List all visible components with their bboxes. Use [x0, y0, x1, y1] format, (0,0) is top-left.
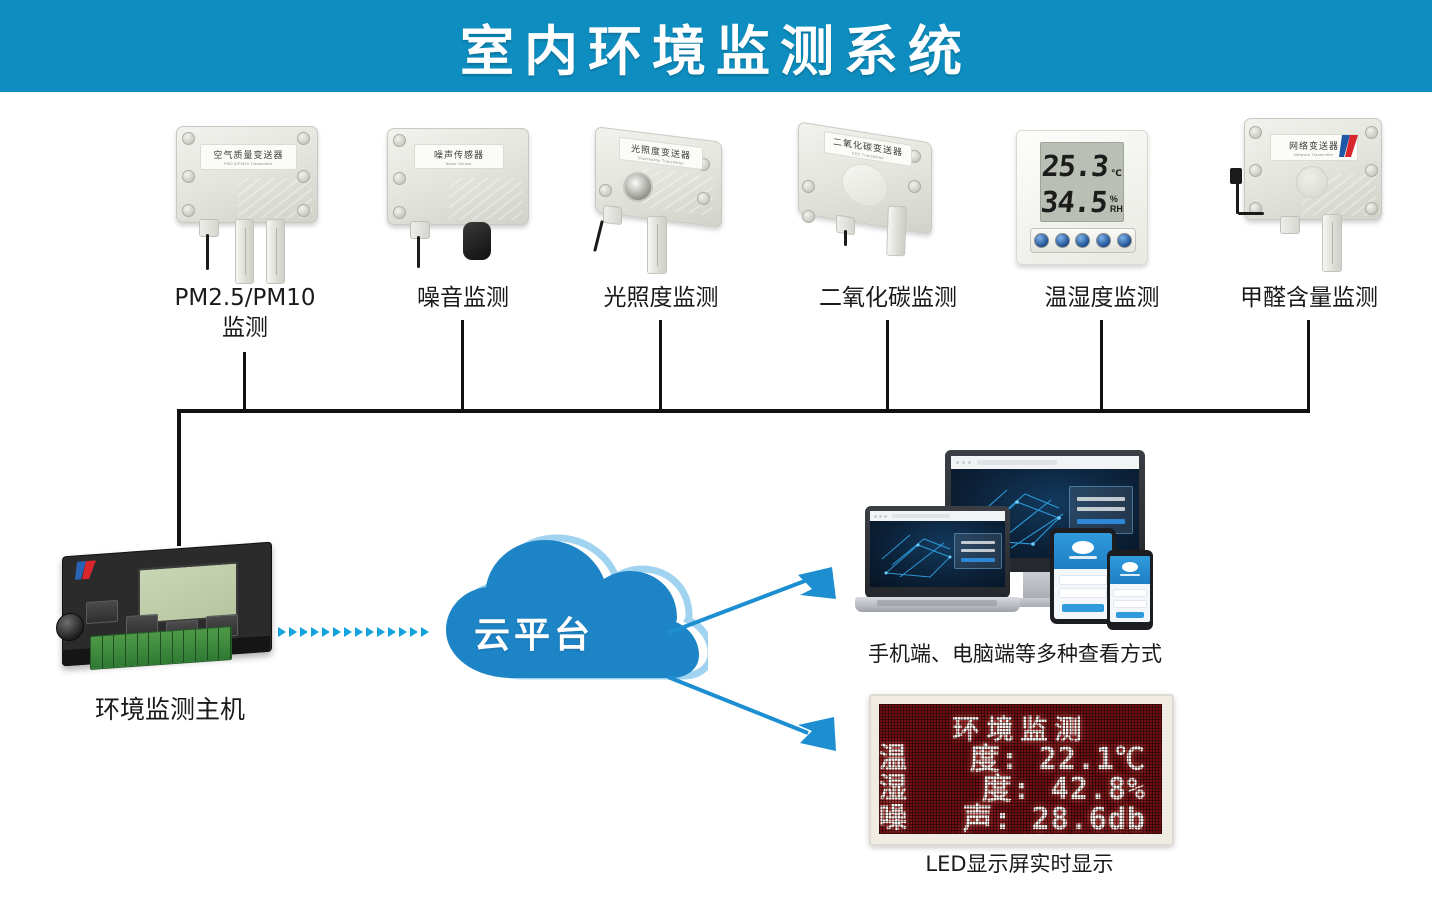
- th-lcd: 25.3 ℃ 34.5 % RH: [1040, 142, 1124, 222]
- host-brand-logo-icon: [74, 558, 100, 582]
- phone-app-screen: [1110, 556, 1150, 622]
- multi-terminal-caption: 手机端、电脑端等多种查看方式: [800, 638, 1230, 668]
- sensor-label-co2: 二氧化碳监测: [782, 283, 994, 313]
- laptop-browser-toolbar: [870, 511, 1005, 521]
- drop-line-illuminance: [659, 320, 662, 410]
- sensor-label-pm25: PM2.5/PM10 监测: [150, 283, 340, 343]
- title-banner: 室内环境监测系统: [0, 0, 1432, 92]
- cable-connector: [1230, 168, 1242, 184]
- led-display: 环境监测 温 度: 22.1℃ 湿 度: 42.8% 噪 声: 28.6db: [869, 694, 1174, 846]
- phone-cloud-icon: [1122, 562, 1138, 572]
- device-nameplate: 空气质量变送器 PM2.5/PM10 Transmitter: [200, 144, 297, 170]
- drop-line-noise: [461, 320, 464, 410]
- device-nameplate-en: Network Transmitter: [1294, 152, 1333, 157]
- host-controller: [50, 543, 290, 683]
- th-button-4[interactable]: [1096, 233, 1111, 248]
- led-row-noise: 噪 声: 28.6db: [879, 800, 1162, 832]
- cloud-to-led-arrow: [660, 655, 860, 765]
- led-screen: 环境监测 温 度: 22.1℃ 湿 度: 42.8% 噪 声: 28.6db: [879, 704, 1162, 834]
- sensor-label-noise: 噪音监测: [378, 283, 548, 313]
- host-label: 环境监测主机: [50, 695, 290, 725]
- drop-line-formaldehyde: [1307, 320, 1310, 410]
- led-row-noise-key: 噪: [879, 796, 935, 834]
- smartphone: [1107, 550, 1153, 630]
- browser-toolbar: [951, 456, 1139, 469]
- sensor-temp-humidity: 25.3 ℃ 34.5 % RH: [1016, 130, 1146, 265]
- humidity-unit-rh: RH: [1110, 204, 1123, 214]
- device-nameplate: 噪声传感器 Noise Sensor: [414, 144, 504, 169]
- diagram-canvas: 室内环境监测系统 空气质量变送器 PM2.5/PM10 Transmitter …: [0, 0, 1432, 905]
- th-button-5[interactable]: [1117, 233, 1132, 248]
- device-nameplate-en: Noise Sensor: [446, 161, 472, 166]
- humidity-unit-percent: %: [1110, 194, 1118, 204]
- sensor-illuminance: 光照度变送器 Illuminance Transmitter: [585, 130, 730, 270]
- temperature-unit: ℃: [1111, 168, 1122, 178]
- led-row-noise-value: 声: 28.6db: [935, 794, 1162, 834]
- sensor-co2: 二氧化碳变送器 CO2 Transmitter: [790, 128, 945, 268]
- laptop-screen: [870, 511, 1005, 587]
- tablet-cloud-icon: [1072, 541, 1094, 554]
- humidity-value: 34.5: [1040, 188, 1108, 217]
- drop-line-temp-humidity: [1100, 320, 1103, 410]
- led-display-caption: LED显示屏实时显示: [869, 848, 1170, 878]
- vent-circle: [1296, 166, 1328, 198]
- laptop: [865, 506, 1010, 598]
- drop-line-pm25: [243, 352, 246, 410]
- bus-line-to-host: [177, 409, 181, 546]
- th-button-bar[interactable]: [1030, 228, 1136, 253]
- brand-logo-icon: [1338, 133, 1360, 159]
- host-to-cloud-arrow: [278, 625, 424, 639]
- th-button-2[interactable]: [1055, 233, 1070, 248]
- th-button-3[interactable]: [1075, 233, 1090, 248]
- sensor-noise: 噪声传感器 Noise Sensor: [387, 128, 527, 268]
- microphone-capsule: [463, 222, 491, 260]
- humidity-unit: % RH: [1110, 194, 1123, 214]
- device-nameplate-cn: 空气质量变送器: [213, 148, 283, 161]
- cloud-label: 云平台: [474, 606, 594, 658]
- device-nameplate-cn: 噪声传感器: [434, 148, 484, 161]
- sensor-air-quality: 空气质量变送器 PM2.5/PM10 Transmitter: [176, 126, 316, 286]
- device-nameplate-cn: 网络变送器: [1289, 139, 1339, 152]
- tablet-app-screen: [1054, 533, 1112, 619]
- th-button-1[interactable]: [1034, 233, 1049, 248]
- laptop-login-box: [954, 533, 1002, 569]
- sensor-formaldehyde: 网络变送器 Network Transmitter: [1222, 118, 1382, 273]
- host-key-1[interactable]: [86, 600, 118, 624]
- multi-terminal-devices: [855, 450, 1175, 630]
- laptop-base: [855, 597, 1020, 612]
- sensor-label-formaldehyde: 甲醛含量监测: [1202, 283, 1416, 313]
- drop-line-co2: [886, 320, 889, 410]
- device-nameplate-en: PM2.5/PM10 Transmitter: [224, 161, 272, 166]
- monitor-login-box: [1069, 486, 1133, 534]
- temperature-value: 25.3: [1041, 152, 1110, 181]
- light-sensor-dome: [623, 172, 653, 202]
- laptop-graphic: [878, 527, 960, 581]
- sensor-label-illuminance: 光照度监测: [571, 283, 751, 313]
- bus-line-horizontal: [177, 409, 1310, 413]
- cloud-to-terminals-arrow: [660, 555, 860, 645]
- page-title: 室内环境监测系统: [0, 0, 1432, 92]
- sensor-label-temp-humidity: 温湿度监测: [1002, 283, 1202, 313]
